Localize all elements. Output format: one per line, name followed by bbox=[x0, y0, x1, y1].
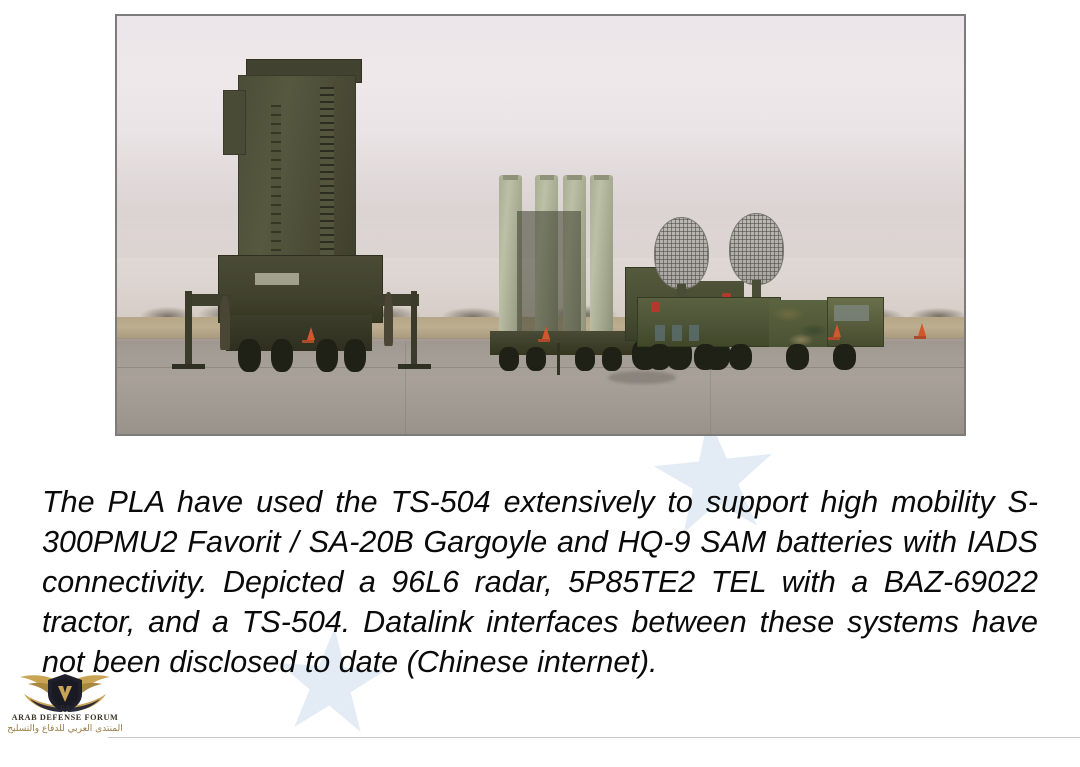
windshield bbox=[834, 305, 868, 321]
wheel bbox=[786, 344, 809, 371]
logo-monogram: DA bbox=[6, 704, 124, 712]
stabilizer-jack bbox=[557, 343, 560, 375]
wheel bbox=[602, 347, 622, 371]
stabilizer-jack bbox=[411, 291, 417, 369]
radar-nameplate bbox=[255, 273, 300, 285]
wheel bbox=[499, 347, 519, 371]
wheel bbox=[648, 344, 671, 371]
slide-photo bbox=[115, 14, 966, 436]
traffic-cone-icon bbox=[307, 327, 315, 340]
shelter-window bbox=[689, 325, 699, 341]
wheel bbox=[694, 344, 717, 371]
wheel bbox=[344, 339, 366, 372]
wheel bbox=[575, 347, 595, 371]
traffic-cone-base bbox=[302, 340, 314, 343]
vehicle-marking bbox=[651, 302, 660, 312]
apron-seam bbox=[405, 342, 406, 434]
traffic-cone-base bbox=[914, 336, 926, 339]
bottom-divider bbox=[108, 737, 1080, 738]
soldier-figure bbox=[384, 292, 393, 346]
radar-antenna-panel bbox=[238, 75, 356, 262]
launcher-frame bbox=[517, 211, 581, 335]
soldier-figure bbox=[220, 296, 229, 350]
radar-body bbox=[218, 255, 383, 323]
traffic-cone-base bbox=[828, 337, 840, 340]
command-vehicle-ts-504 bbox=[625, 217, 913, 384]
tel-5p85te2 bbox=[490, 175, 642, 376]
arab-defense-forum-logo: DA ARAB DEFENSE FORUM المنتدى العربي للد… bbox=[6, 672, 124, 738]
traffic-cone-icon bbox=[918, 323, 926, 336]
dish-antenna-icon bbox=[729, 213, 784, 285]
missile-canister bbox=[590, 175, 613, 336]
wheel bbox=[729, 344, 752, 371]
radar-vehicle-96l6 bbox=[202, 75, 405, 376]
traffic-cone-icon bbox=[542, 326, 550, 339]
camouflage-section bbox=[769, 300, 832, 347]
dish-antenna-icon bbox=[654, 217, 709, 289]
logo-name-arabic: المنتدى العربي للدفاع والتسليح bbox=[6, 724, 124, 734]
traffic-cone-icon bbox=[833, 324, 841, 337]
wheel bbox=[316, 339, 338, 372]
caption-text: The PLA have used the TS-504 extensively… bbox=[42, 485, 1038, 679]
shelter-window bbox=[672, 325, 682, 341]
wheel bbox=[833, 344, 856, 371]
wheel bbox=[271, 339, 293, 372]
stabilizer-jack bbox=[185, 291, 191, 369]
slide-caption: The PLA have used the TS-504 extensively… bbox=[42, 482, 1038, 682]
photo-scene bbox=[117, 16, 964, 434]
traffic-cone-base bbox=[538, 339, 550, 342]
shelter-window bbox=[655, 325, 665, 341]
logo-name-english: ARAB DEFENSE FORUM bbox=[6, 713, 124, 722]
wheel bbox=[238, 339, 260, 372]
wheel bbox=[526, 347, 546, 371]
